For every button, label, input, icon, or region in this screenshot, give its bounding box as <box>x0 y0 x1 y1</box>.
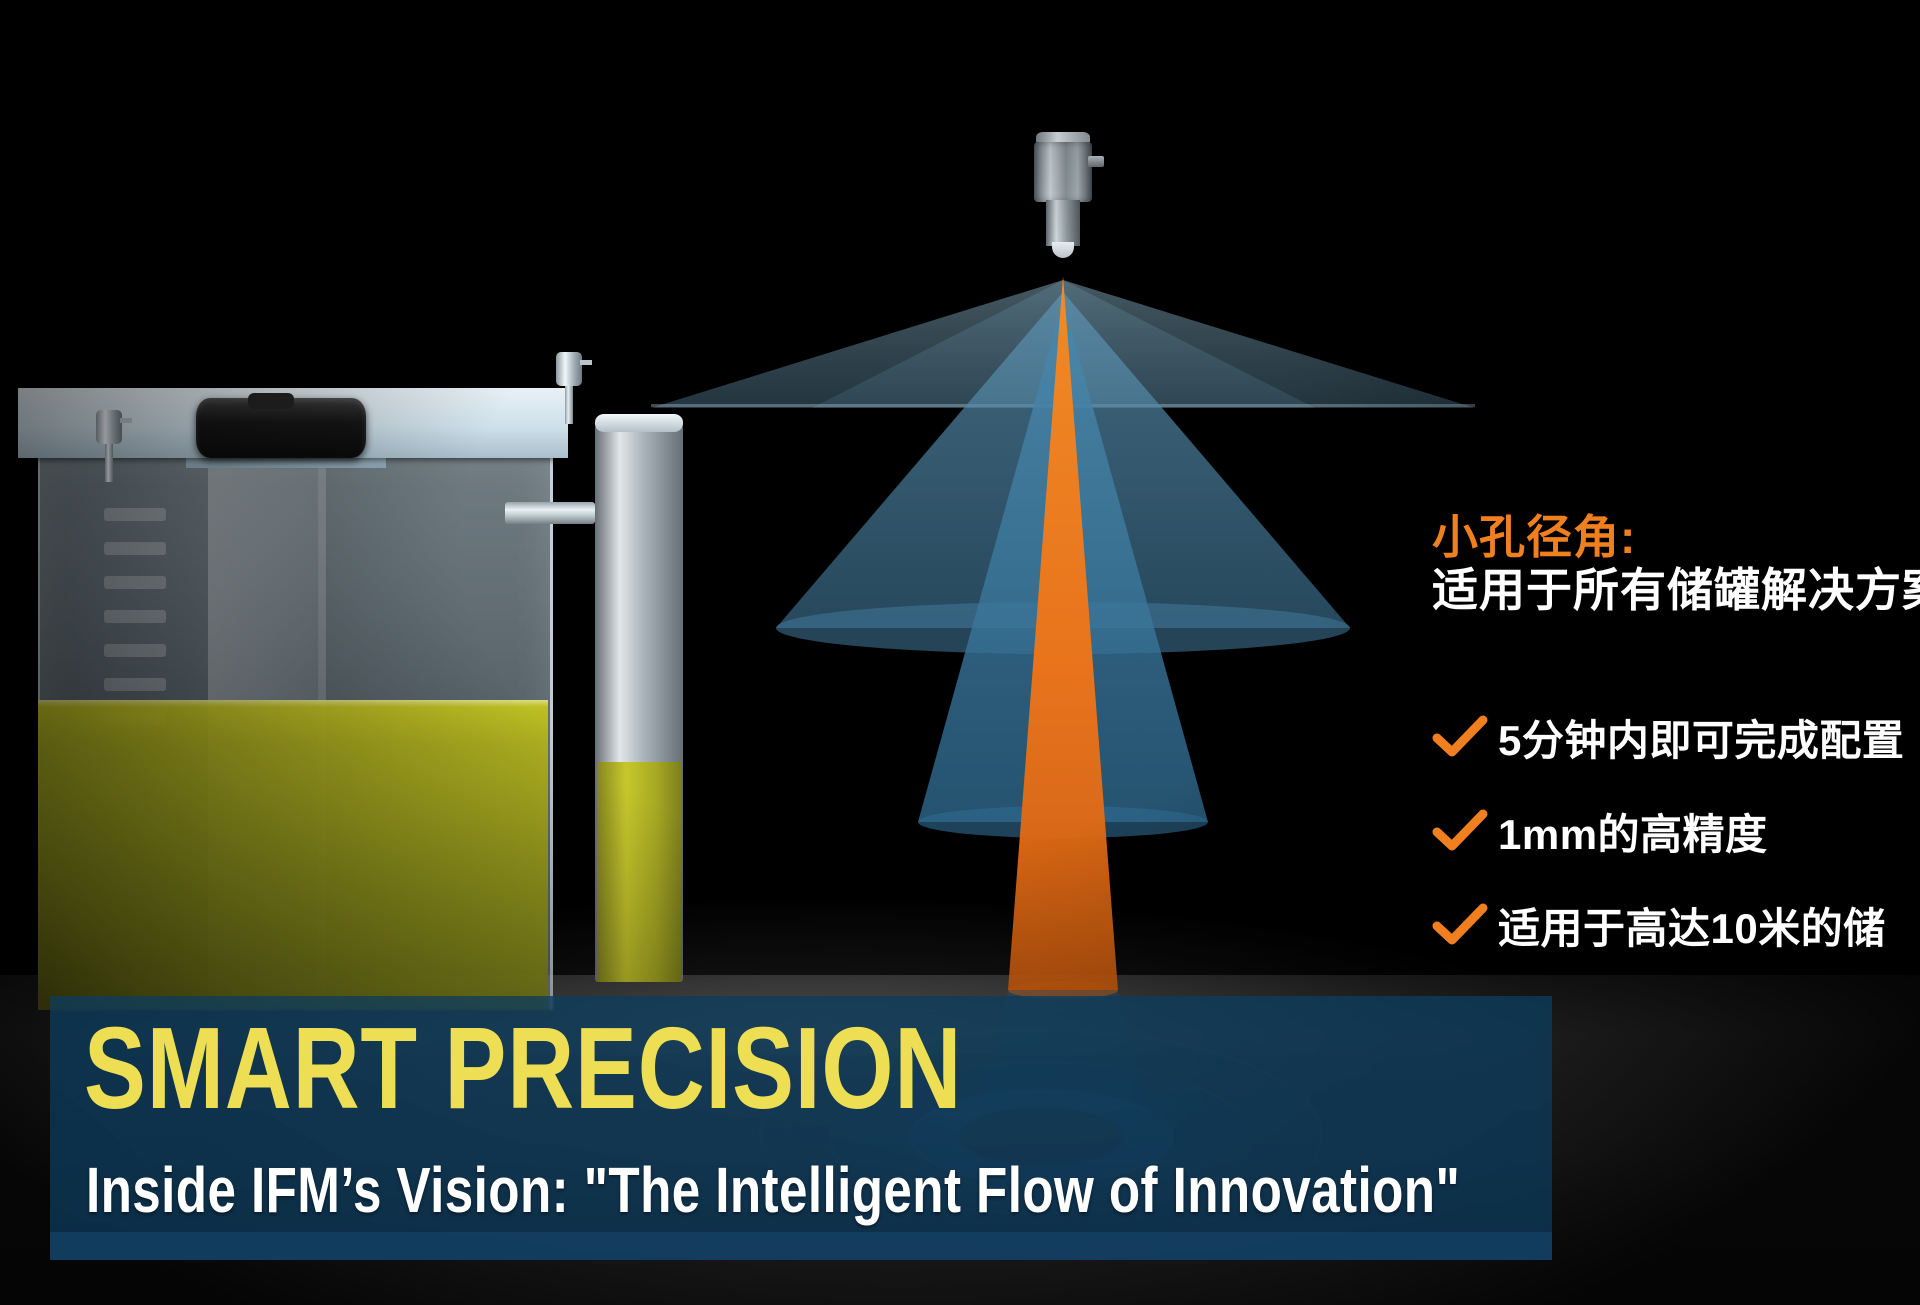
sight-glass-liquid-level <box>597 762 681 982</box>
radar-level-sensor <box>1030 132 1096 262</box>
info-heading-orange: 小孔径角: <box>1432 512 1920 564</box>
tank-filler-cap <box>196 398 366 458</box>
bullet-label: 1mm的高精度 <box>1498 801 1768 862</box>
sensor-neck <box>1046 200 1080 246</box>
scene-root: 小孔径角: 适用于所有储罐解决方案 5分钟内即可完成配置 1mm的高精度 适用于… <box>0 0 1920 1305</box>
bullet-label: 5分钟内即可完成配置 <box>1498 707 1904 768</box>
list-item: 1mm的高精度 <box>1432 784 1920 878</box>
sensor-connector-port <box>1088 156 1104 167</box>
list-item: 5分钟内即可完成配置 <box>1432 690 1920 784</box>
banner-footer-strip <box>50 1232 1552 1260</box>
check-icon <box>1432 809 1488 853</box>
check-icon <box>1432 715 1488 759</box>
storage-tank <box>18 388 578 1028</box>
tank-liquid-level <box>38 700 548 1010</box>
sensor-housing <box>1034 142 1092 202</box>
check-icon <box>1432 903 1488 947</box>
banner-subtitle: Inside IFM’s Vision: "The Intelligent Fl… <box>86 1158 1460 1222</box>
info-panel: 小孔径角: 适用于所有储罐解决方案 <box>1432 512 1920 616</box>
list-item: 适用于高达10米的储 <box>1432 878 1920 972</box>
bullet-label: 适用于高达10米的储 <box>1498 895 1886 956</box>
title-banner: SMART PRECISION Inside IFM’s Vision: "Th… <box>50 996 1552 1260</box>
sensor-antenna-tip <box>1052 242 1074 258</box>
feature-bullet-list: 5分钟内即可完成配置 1mm的高精度 适用于高达10米的储 <box>1432 690 1920 972</box>
connecting-pipe <box>505 502 595 524</box>
info-heading-white: 适用于所有储罐解决方案 <box>1432 564 1920 616</box>
sight-glass-cap <box>595 414 683 432</box>
banner-title: SMART PRECISION <box>84 1010 962 1126</box>
